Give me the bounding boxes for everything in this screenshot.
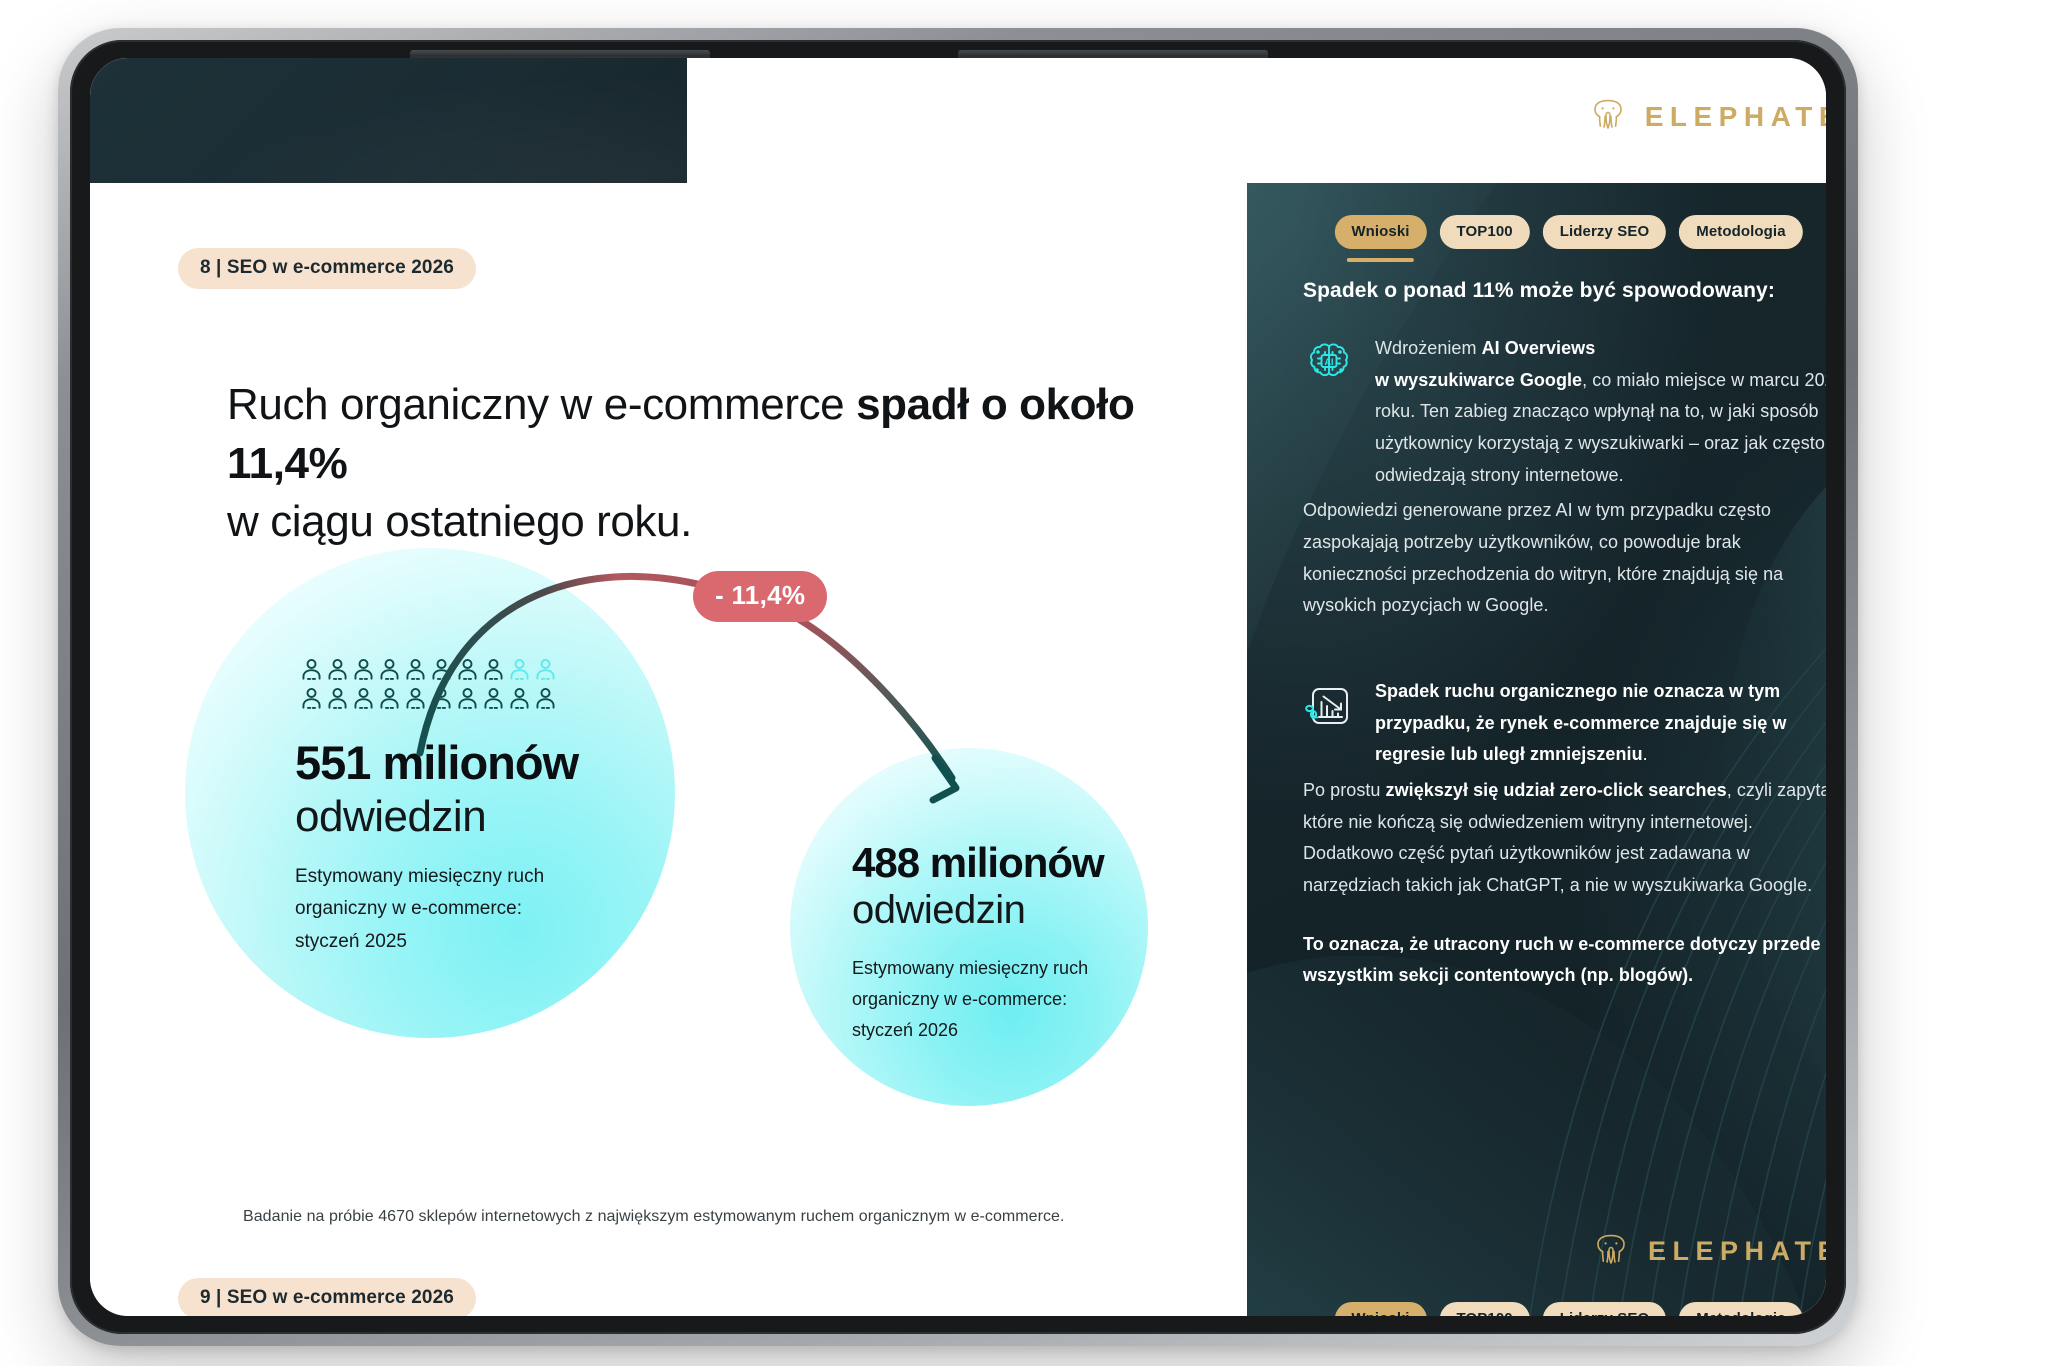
page-label-bottom: 9 | SEO w e-commerce 2026 xyxy=(178,1278,476,1316)
chart-bold-text: Spadek ruchu organicznego nie oznacza w … xyxy=(1375,681,1786,764)
stat-caption: Estymowany miesięczny ruch organiczny w … xyxy=(295,861,625,959)
brand-wordmark: ELEPHATE xyxy=(1648,1236,1826,1267)
insight-text-chart: Spadek ruchu organicznego nie oznacza w … xyxy=(1375,676,1826,771)
insight-para-ai-answers: Odpowiedzi generowane przez AI w tym prz… xyxy=(1303,495,1826,622)
person-icon-highlighted xyxy=(508,658,531,683)
tab-bar-top[interactable]: Wnioski TOP100 Liderzy SEO Metodologia xyxy=(1334,215,1802,249)
person-icon xyxy=(352,658,375,683)
elephant-icon xyxy=(1588,98,1628,135)
stat-caption-line1: Estymowany miesięczny ruch xyxy=(852,958,1088,978)
insight-para-conclusion: To oznacza, że utracony ruch w e-commerc… xyxy=(1303,929,1826,992)
stat-unit: odwiedzin xyxy=(295,791,625,842)
stat-value: 551 milionów xyxy=(295,738,625,789)
svg-text:AI: AI xyxy=(1325,357,1334,367)
people-pictogram xyxy=(300,658,568,712)
slide-right-page: ELEPHATE xyxy=(1247,58,1826,1316)
stat-2025: 551 milionów odwiedzin Estymowany miesię… xyxy=(295,738,625,959)
person-icon xyxy=(378,658,401,683)
stat-value: 488 milionów xyxy=(852,840,1152,885)
ai-lead-plain: Wdrożeniem xyxy=(1375,338,1482,358)
brand-logo-top: ELEPHATE xyxy=(1588,98,1826,135)
person-icon xyxy=(430,687,453,712)
stat-caption-line2: organiczny w e-commerce: xyxy=(295,898,522,919)
headline-line2: w ciągu ostatniego roku. xyxy=(227,497,692,546)
ai-bold-1: AI Overviews xyxy=(1482,338,1596,358)
insight-text-ai: Wdrożeniem AI Overviewsw wyszukiwarce Go… xyxy=(1375,333,1826,491)
chart-bold-tail: . xyxy=(1643,744,1648,764)
tablet-bezel: 8 | SEO w e-commerce 2026 Ruch organiczn… xyxy=(70,40,1846,1334)
person-icon xyxy=(482,687,505,712)
stat-caption: Estymowany miesięczny ruch organiczny w … xyxy=(852,953,1152,1046)
person-icon xyxy=(430,658,453,683)
tab-wnioski[interactable]: Wnioski xyxy=(1334,1302,1426,1316)
person-icon xyxy=(508,687,531,712)
person-icon-highlighted xyxy=(534,658,557,683)
tab-top100[interactable]: TOP100 xyxy=(1440,215,1530,249)
brand-wordmark: ELEPHATE xyxy=(1645,101,1826,133)
footnote: Badanie na próbie 4670 sklepów interneto… xyxy=(243,1208,1065,1226)
person-icon xyxy=(378,687,401,712)
person-icon xyxy=(300,687,323,712)
tab-bar-bottom[interactable]: Wnioski TOP100 Liderzy SEO Metodologia xyxy=(1334,1302,1802,1316)
person-icon xyxy=(300,658,323,683)
person-icon xyxy=(456,687,479,712)
person-icon xyxy=(326,687,349,712)
tab-top100[interactable]: TOP100 xyxy=(1440,1302,1530,1316)
zero-click-bold: zwiększył się udział zero-click searches xyxy=(1386,780,1727,800)
stat-unit: odwiedzin xyxy=(852,887,1152,933)
brand-logo-bottom: ELEPHATE xyxy=(1591,1233,1826,1270)
tab-liderzy-seo[interactable]: Liderzy SEO xyxy=(1543,1302,1666,1316)
ai-bold-2: w wyszukiwarce Google xyxy=(1375,370,1582,390)
panel-content: Spadek o ponad 11% może być spowodowany: xyxy=(1303,279,1826,992)
headline-plain: Ruch organiczny w e-commerce xyxy=(227,380,856,429)
tab-liderzy-seo[interactable]: Liderzy SEO xyxy=(1543,215,1666,249)
ai-brain-icon: AI xyxy=(1303,337,1355,394)
insight-para-zero-click: Po prostu zwiększył się udział zero-clic… xyxy=(1303,775,1826,902)
page-title: Ruch organiczny w e-commerce spadł o oko… xyxy=(227,376,1207,552)
slide-left-page: 8 | SEO w e-commerce 2026 Ruch organiczn… xyxy=(90,58,1247,1316)
tab-metodologia[interactable]: Metodologia xyxy=(1679,1302,1802,1316)
stat-caption-line3: styczeń 2025 xyxy=(295,931,407,952)
person-icon xyxy=(456,658,479,683)
person-icon xyxy=(534,687,557,712)
person-icon xyxy=(352,687,375,712)
top-dark-banner xyxy=(90,58,687,183)
elephant-icon xyxy=(1591,1233,1631,1270)
insight-block-ai: AI Wdrożeniem AI Overviewsw wyszukiwarce… xyxy=(1303,333,1826,491)
insights-panel: Wnioski TOP100 Liderzy SEO Metodologia S… xyxy=(1247,183,1826,1316)
person-icon xyxy=(482,658,505,683)
insight-block-chart: Spadek ruchu organicznego nie oznacza w … xyxy=(1303,676,1826,771)
person-icon xyxy=(326,658,349,683)
panel-heading: Spadek o ponad 11% może być spowodowany: xyxy=(1303,279,1826,303)
person-icon xyxy=(404,687,427,712)
declining-chart-sprout-icon xyxy=(1303,680,1355,737)
stat-caption-line1: Estymowany miesięczny ruch xyxy=(295,866,544,887)
stat-2026: 488 milionów odwiedzin Estymowany miesię… xyxy=(852,840,1152,1046)
tablet-screen: 8 | SEO w e-commerce 2026 Ruch organiczn… xyxy=(90,58,1826,1316)
tablet-device-frame: 8 | SEO w e-commerce 2026 Ruch organiczn… xyxy=(58,28,1858,1346)
tab-metodologia[interactable]: Metodologia xyxy=(1679,215,1802,249)
tab-wnioski[interactable]: Wnioski xyxy=(1334,215,1426,249)
stat-caption-line3: styczeń 2026 xyxy=(852,1020,958,1040)
zero-click-lead: Po prostu xyxy=(1303,780,1386,800)
person-icon xyxy=(404,658,427,683)
page-label-top: 8 | SEO w e-commerce 2026 xyxy=(178,248,476,289)
delta-badge: - 11,4% xyxy=(693,571,827,622)
stat-caption-line2: organiczny w e-commerce: xyxy=(852,989,1067,1009)
